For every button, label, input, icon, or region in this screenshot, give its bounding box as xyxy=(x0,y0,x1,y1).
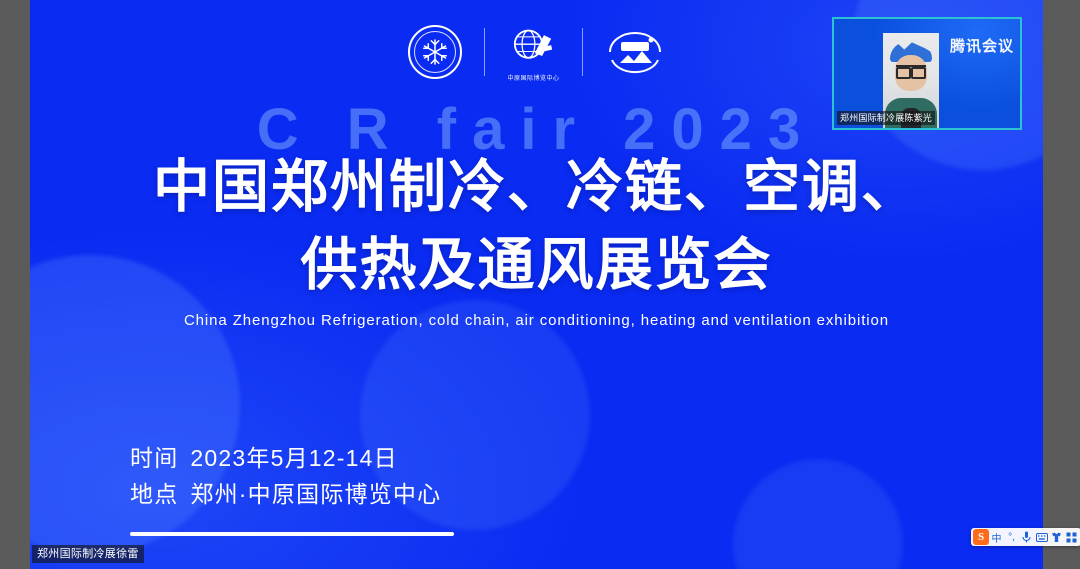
letterbox-left xyxy=(0,0,30,569)
title-line-2: 供热及通风展览会 xyxy=(30,226,1043,304)
snowflake-emblem-icon xyxy=(408,25,462,79)
tencent-meeting-watermark: 腾讯会议 xyxy=(950,35,1014,56)
chinese-mode-icon[interactable]: 中 xyxy=(989,529,1004,545)
sogou-ime-toolbar[interactable]: S 中 °, xyxy=(971,528,1080,546)
globe-emblem-icon xyxy=(509,22,557,70)
logo-snowflake xyxy=(386,25,484,79)
slide-info-block: 时间2023年5月12-14日 地点郑州·中原国际博览中心 xyxy=(130,440,454,536)
info-row-time: 时间2023年5月12-14日 xyxy=(130,440,454,476)
sogou-logo-icon[interactable]: S xyxy=(973,529,989,545)
punctuation-icon[interactable]: °, xyxy=(1004,529,1019,545)
microphone-icon[interactable] xyxy=(1019,529,1034,545)
time-value: 2023年5月12-14日 xyxy=(190,445,397,471)
globe-emblem-caption: 中原国际博览中心 xyxy=(507,73,559,82)
glasses-icon xyxy=(896,65,926,74)
place-label: 地点 xyxy=(130,481,178,507)
info-underline xyxy=(130,532,454,536)
slide-subtitle: China Zhengzhou Refrigeration, cold chai… xyxy=(30,312,1043,329)
participant-name-label: 郑州国际制冷展陈紫光 xyxy=(837,111,935,125)
place-value: 郑州·中原国际博览中心 xyxy=(190,481,441,507)
title-line-1: 中国郑州制冷、冷链、空调、 xyxy=(30,148,1043,226)
decorative-blob xyxy=(733,459,903,569)
slide-title: 中国郑州制冷、冷链、空调、 供热及通风展览会 xyxy=(30,148,1043,304)
toolbox-icon[interactable] xyxy=(1064,529,1079,545)
keyboard-icon[interactable] xyxy=(1034,529,1049,545)
logo-globe: 中原国际博览中心 xyxy=(485,22,581,82)
skin-icon[interactable] xyxy=(1049,529,1064,545)
zhengzhou-badge-icon xyxy=(605,29,665,75)
logo-zhengzhou-badge xyxy=(583,29,687,75)
screen-share-window: 中原国际博览中心 C R fair 2023 中国郑州制冷、冷链 xyxy=(0,0,1080,569)
info-row-place: 地点郑州·中原国际博览中心 xyxy=(130,476,454,512)
time-label: 时间 xyxy=(130,445,178,471)
speaker-caption: 郑州国际制冷展徐雷 xyxy=(32,545,144,563)
participant-video-panel[interactable]: 腾讯会议 郑州国际制冷展陈紫光 xyxy=(832,17,1022,130)
letterbox-right xyxy=(1043,0,1080,569)
